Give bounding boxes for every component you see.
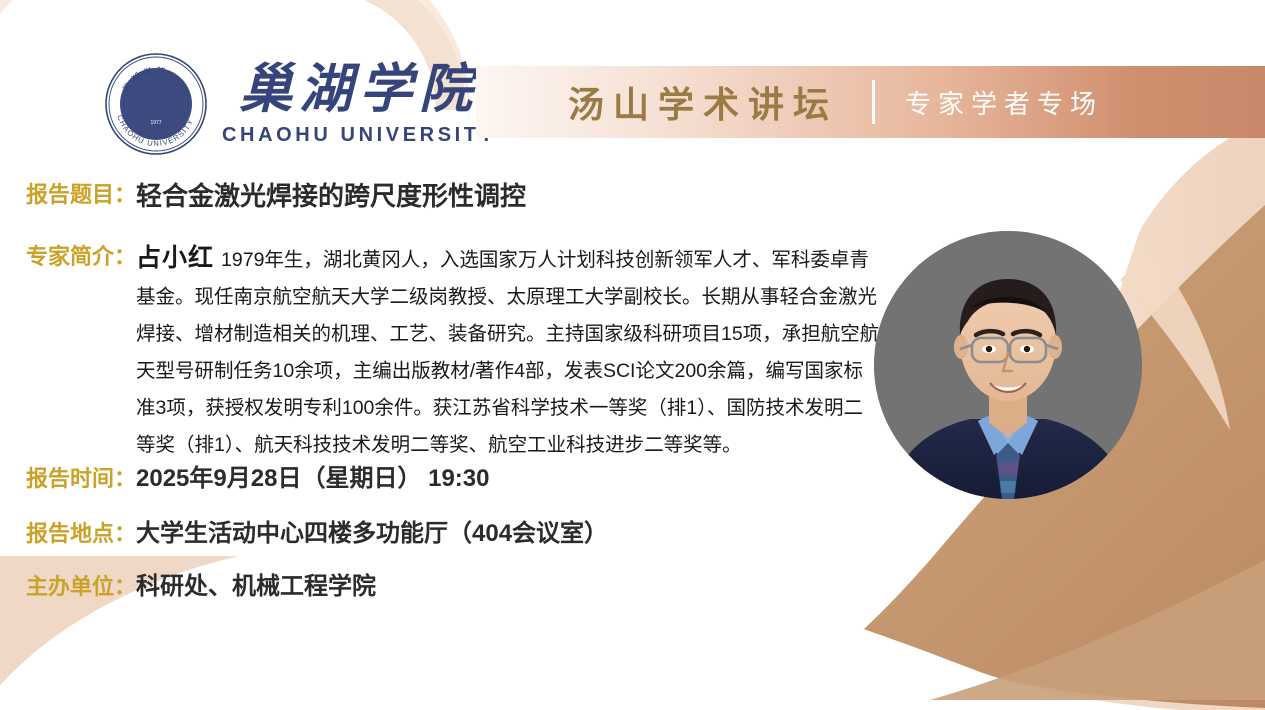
poster-canvas: 1977 巢 湖 学 院 CHAOHU UNIVERSITY 巢湖学院 CHAO… xyxy=(0,0,1265,710)
organizer-value: 科研处、机械工程学院 xyxy=(136,570,376,605)
speaker-bio-line: 等奖（排1）、航天科技技术发明二等奖、航空工业科技进步二等奖等。 xyxy=(136,427,856,464)
talk-place-label: 报告地点： xyxy=(26,517,136,550)
speaker-portrait xyxy=(874,231,1142,499)
talk-title-value: 轻合金激光焊接的跨尺度形性调控 xyxy=(136,178,526,216)
talk-time-row: 报告时间： 2025年9月28日（星期日） 19:30 xyxy=(26,462,490,497)
talk-place-value: 大学生活动中心四楼多功能厅（404会议室） xyxy=(136,517,608,552)
speaker-portrait-image xyxy=(874,231,1142,499)
organizer-row: 主办单位： 科研处、机械工程学院 xyxy=(26,570,376,605)
talk-title-row: 报告题目： 轻合金激光焊接的跨尺度形性调控 xyxy=(26,178,526,216)
speaker-bio-line: 焊接、增材制造相关的机理、工艺、装备研究。主持国家级科研项目15项，承担航空航 xyxy=(136,316,856,353)
speaker-bio-body: 占小红1979年生，湖北黄冈人，入选国家万人计划科技创新领军人才、军科委卓青 基… xyxy=(136,240,856,464)
speaker-bio-first-line: 占小红1979年生，湖北黄冈人，入选国家万人计划科技创新领军人才、军科委卓青 xyxy=(136,249,869,271)
talk-time-label: 报告时间： xyxy=(26,462,136,495)
talk-time-value: 2025年9月28日（星期日） 19:30 xyxy=(136,462,489,497)
organizer-label: 主办单位： xyxy=(26,570,136,603)
speaker-bio-line: 准3项，获授权发明专利100余件。获江苏省科学技术一等奖（排1）、国防技术发明二 xyxy=(136,390,856,427)
talk-title-label: 报告题目： xyxy=(26,178,136,211)
speaker-bio-line-0: 1979年生，湖北黄冈人，入选国家万人计划科技创新领军人才、军科委卓青 xyxy=(221,249,869,271)
speaker-bio-line: 基金。现任南京航空航天大学二级岗教授、太原理工大学副校长。长期从事轻合金激光 xyxy=(136,279,856,316)
talk-place-row: 报告地点： 大学生活动中心四楼多功能厅（404会议室） xyxy=(26,517,608,552)
speaker-bio-label: 专家简介： xyxy=(26,240,136,273)
speaker-bio-row: 专家简介： 占小红1979年生，湖北黄冈人，入选国家万人计划科技创新领军人才、军… xyxy=(26,240,876,464)
speaker-name: 占小红 xyxy=(136,244,214,272)
speaker-bio-line: 天型号研制任务10余项，主编出版教材/著作4部，发表SCI论文200余篇，编写国… xyxy=(136,353,856,390)
